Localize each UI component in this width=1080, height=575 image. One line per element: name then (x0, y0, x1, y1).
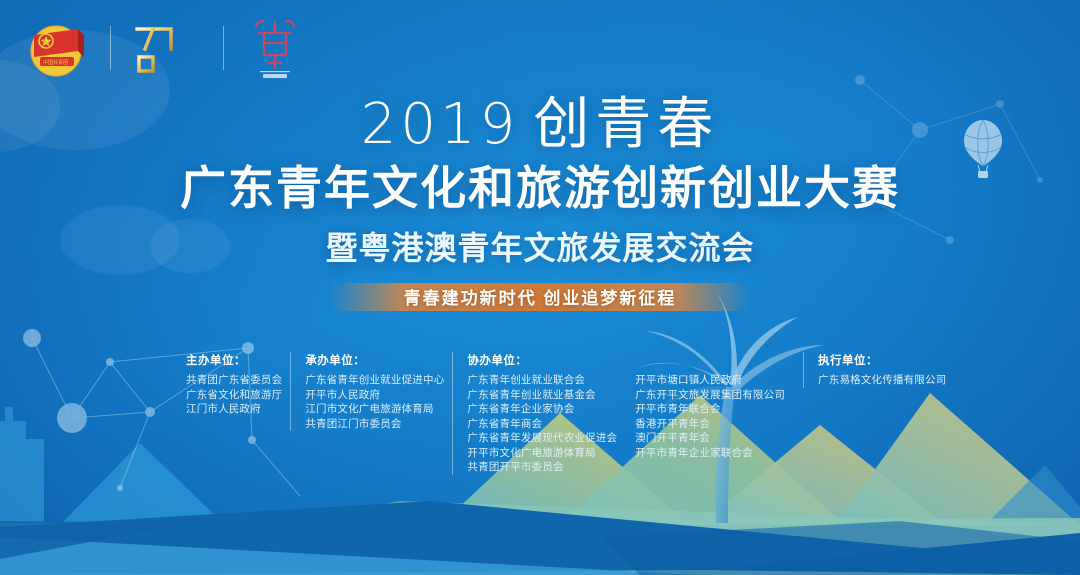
coorganizer-sublist-2: 开平市塘口镇人民政府 广东开平文旅发展集团有限公司 开平市青年联合会 香港开平青… (635, 373, 785, 475)
organizer-item: 共青团广东省委员会 (186, 373, 282, 388)
organizer-item: 开平市青年企业家联合会 (635, 446, 785, 461)
organizer-item: 广东省青年创业就业促进中心 (305, 373, 444, 388)
organizer-item: 共青团开平市委员会 (467, 460, 617, 475)
logo-third-partner (244, 15, 306, 81)
third-partner-logo-icon (244, 15, 306, 81)
organizer-item: 广东易格文化传播有限公司 (818, 373, 946, 388)
main-title-line2: 广东青年文化和旅游创新创业大赛 (0, 161, 1080, 216)
communist-youth-league-emblem-icon: 中国共青团 (22, 17, 90, 79)
organizer-column-executor: 执行单位： 广东易格文化传播有限公司 (803, 352, 946, 388)
title-line1-text: 创青春 (533, 92, 719, 157)
organizer-heading-executor: 执行单位： (818, 352, 946, 368)
logo-bar: 中国共青团 (22, 14, 306, 82)
slogan-text: 青春建功新时代 创业追梦新征程 (404, 284, 677, 309)
title-block: 2019创青春 广东青年文化和旅游创新创业大赛 暨粤港澳青年文旅发展交流会 青春… (0, 96, 1080, 311)
organizer-item: 广东省青年创业就业基金会 (467, 388, 617, 403)
svg-text:中国共青团: 中国共青团 (43, 59, 68, 66)
organizer-item: 江门市人民政府 (186, 402, 282, 417)
organizer-item: 开平市文化广电旅游体育局 (467, 446, 617, 461)
organizer-item: 广东省青年商会 (467, 417, 617, 432)
organizer-heading-host: 主办单位： (186, 352, 282, 368)
organizer-item: 广东开平文旅发展集团有限公司 (635, 388, 785, 403)
organizer-column-undertaker: 承办单位： 广东省青年创业就业促进中心 开平市人民政府 江门市文化广电旅游体育局… (290, 352, 452, 431)
organizer-heading-coorganizer: 协办单位： (467, 352, 785, 368)
organizer-item: 澳门开平青年会 (635, 431, 785, 446)
main-title-line3: 暨粤港澳青年文旅发展交流会 (0, 223, 1080, 269)
title-year: 2019 (361, 92, 520, 157)
organizer-item: 共青团江门市委员会 (305, 417, 444, 432)
organizer-item: 广东青年创业就业联合会 (467, 373, 617, 388)
organizer-item: 广东省青年企业家协会 (467, 402, 617, 417)
organizer-item: 开平市人民政府 (305, 388, 444, 403)
organizer-heading-undertaker: 承办单位： (305, 352, 444, 368)
organizer-item: 广东省青年发展现代农业促进会 (467, 431, 617, 446)
slogan-banner: 青春建功新时代 创业追梦新征程 (330, 283, 750, 311)
organizer-credits: 主办单位： 共青团广东省委员会 广东省文化和旅游厅 江门市人民政府 承办单位： … (186, 352, 946, 475)
guangdong-chuangye-logo-icon (131, 19, 203, 77)
organizer-item: 开平市塘口镇人民政府 (635, 373, 785, 388)
organizer-column-host: 主办单位： 共青团广东省委员会 广东省文化和旅游厅 江门市人民政府 (186, 352, 290, 417)
logo-guangdong-chuangye (131, 19, 203, 77)
poster-canvas: 中国共青团 (0, 0, 1080, 575)
organizer-item: 香港开平青年会 (635, 417, 785, 432)
logo-communist-youth-league: 中国共青团 (22, 17, 90, 79)
logo-divider-1 (110, 26, 111, 70)
organizer-item: 开平市青年联合会 (635, 402, 785, 417)
organizer-column-coorganizer: 协办单位： 广东青年创业就业联合会 广东省青年创业就业基金会 广东省青年企业家协… (452, 352, 785, 475)
organizer-item: 广东省文化和旅游厅 (186, 388, 282, 403)
main-title-line1: 2019创青春 (0, 96, 1080, 155)
logo-divider-2 (223, 26, 224, 70)
organizer-item: 江门市文化广电旅游体育局 (305, 402, 444, 417)
coorganizer-sublist-1: 广东青年创业就业联合会 广东省青年创业就业基金会 广东省青年企业家协会 广东省青… (467, 373, 617, 475)
